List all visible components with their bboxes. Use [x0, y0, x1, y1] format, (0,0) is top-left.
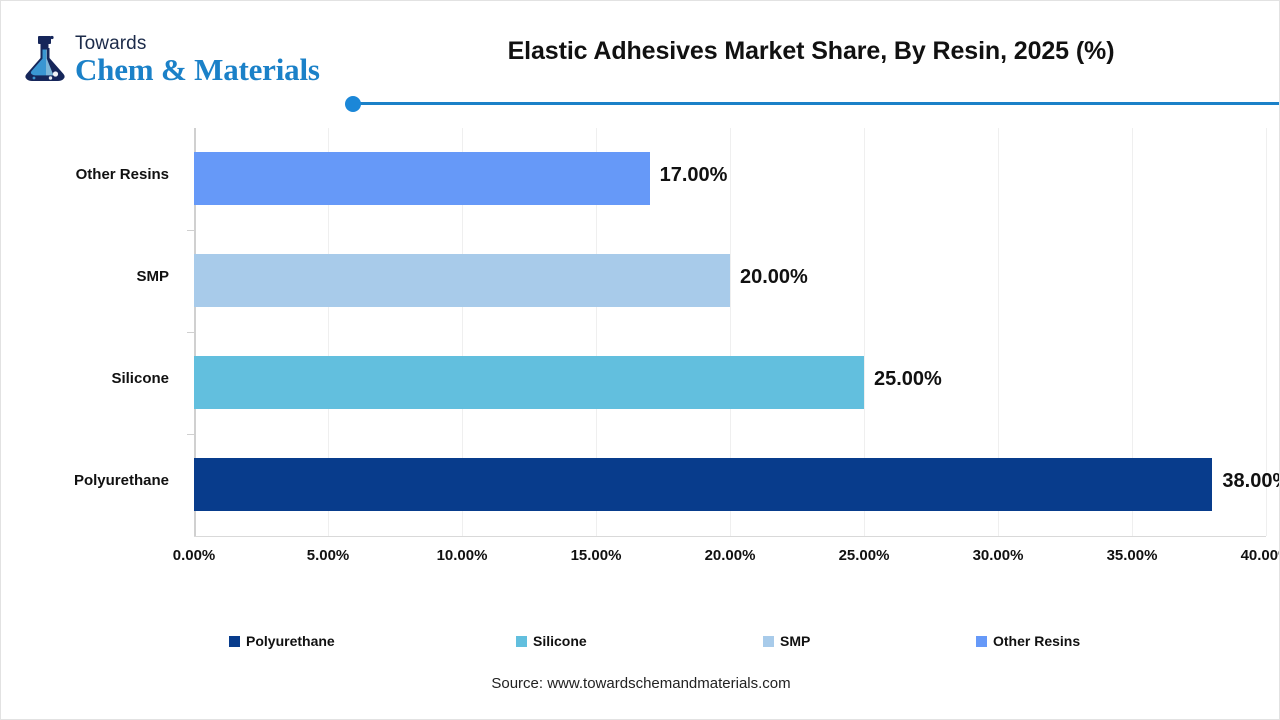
- y-axis-tick: [187, 332, 194, 333]
- y-axis-category-label: Other Resins: [76, 166, 169, 183]
- bar-value-label: 20.00%: [740, 266, 808, 289]
- x-axis-tick-label: 25.00%: [839, 547, 890, 564]
- legend-label: Other Resins: [993, 633, 1080, 649]
- chart-plot-area: 17.00%Other Resins20.00%SMP25.00%Silicon…: [1, 113, 1280, 583]
- y-axis-category-label: SMP: [136, 268, 169, 285]
- x-axis-tick-label: 10.00%: [437, 547, 488, 564]
- legend-swatch-icon: [976, 636, 987, 647]
- chart-page: Towards Chem & Materials Elastic Adhesiv…: [0, 0, 1280, 720]
- legend-swatch-icon: [516, 636, 527, 647]
- source-note: Source: www.towardschemandmaterials.com: [1, 675, 1280, 692]
- legend-swatch-icon: [763, 636, 774, 647]
- y-axis-category-label: Polyurethane: [74, 472, 169, 489]
- legend-item-silicone[interactable]: Silicone: [516, 631, 587, 651]
- page-title: Elastic Adhesives Market Share, By Resin…: [361, 37, 1261, 66]
- divider-line: [353, 102, 1280, 105]
- legend-label: SMP: [780, 633, 810, 649]
- x-axis-tick-label: 35.00%: [1107, 547, 1158, 564]
- brand-line-2: Chem & Materials: [75, 54, 320, 85]
- x-axis-tick-label: 15.00%: [571, 547, 622, 564]
- bar-row: 20.00%SMP: [194, 230, 1266, 332]
- legend-label: Silicone: [533, 633, 587, 649]
- chart-header: Towards Chem & Materials Elastic Adhesiv…: [1, 1, 1280, 113]
- x-axis-line: [194, 536, 1266, 537]
- y-axis-tick: [187, 230, 194, 231]
- bar-silicone[interactable]: [194, 356, 864, 409]
- legend-label: Polyurethane: [246, 633, 335, 649]
- bar-row: 25.00%Silicone: [194, 332, 1266, 434]
- x-axis-tick-label: 5.00%: [307, 547, 350, 564]
- legend-swatch-icon: [229, 636, 240, 647]
- brand-line-1: Towards: [75, 34, 320, 53]
- legend-item-other-resins[interactable]: Other Resins: [976, 631, 1080, 651]
- chart-legend: PolyurethaneSiliconeSMPOther Resins: [1, 631, 1280, 659]
- x-axis-tick-label: 30.00%: [973, 547, 1024, 564]
- bar-value-label: 17.00%: [660, 164, 728, 187]
- flask-icon: [19, 33, 71, 85]
- y-axis-tick: [187, 434, 194, 435]
- divider-dot-icon: [345, 96, 361, 112]
- x-axis-tick-label: 20.00%: [705, 547, 756, 564]
- x-axis-tick-label: 40.00%: [1241, 547, 1280, 564]
- bar-smp[interactable]: [194, 254, 730, 307]
- bar-polyurethane[interactable]: [194, 458, 1212, 511]
- brand-wordmark: Towards Chem & Materials: [75, 34, 320, 85]
- legend-item-smp[interactable]: SMP: [763, 631, 810, 651]
- bar-value-label: 38.00%: [1222, 470, 1280, 493]
- y-axis-category-label: Silicone: [111, 370, 169, 387]
- bar-value-label: 25.00%: [874, 368, 942, 391]
- bar-row: 38.00%Polyurethane: [194, 434, 1266, 536]
- bar-row: 17.00%Other Resins: [194, 128, 1266, 230]
- header-divider: [345, 96, 1280, 112]
- bar-other-resins[interactable]: [194, 152, 650, 205]
- x-axis-tick-label: 0.00%: [173, 547, 216, 564]
- legend-item-polyurethane[interactable]: Polyurethane: [229, 631, 335, 651]
- brand-logo: Towards Chem & Materials: [19, 29, 320, 89]
